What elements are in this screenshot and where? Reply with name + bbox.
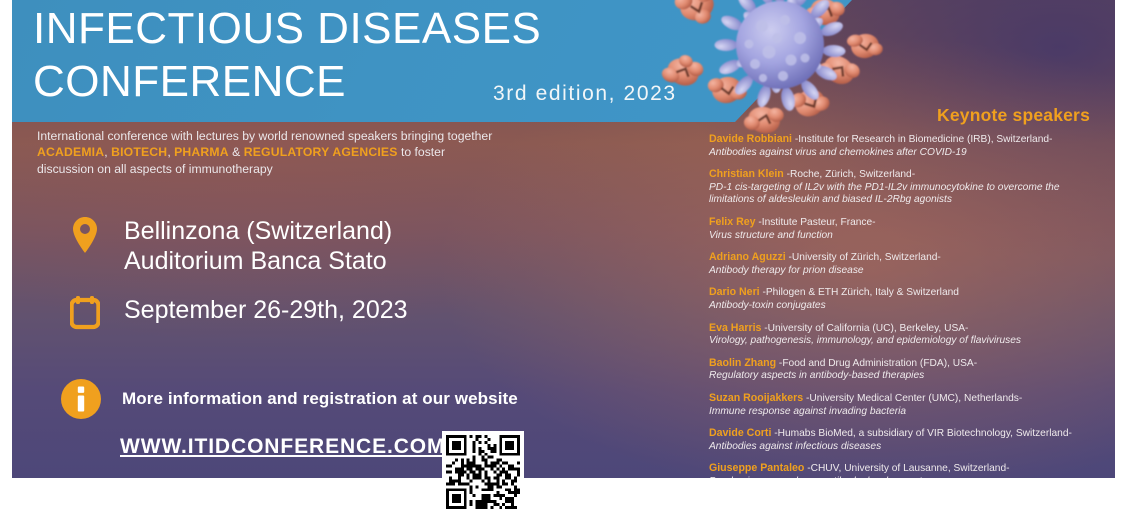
date-text: September 26-29th, 2023 — [106, 295, 408, 325]
edition-label: 3rd edition, 2023 — [493, 82, 677, 106]
speaker-name: Christian Klein — [709, 168, 784, 180]
speaker-name: Adriano Aguzzi — [709, 251, 786, 263]
speaker-entry: Felix Rey -Institute Pasteur, France-Vir… — [709, 216, 1101, 242]
speaker-name: Dario Neri — [709, 286, 760, 298]
venue-line-1: Bellinzona (Switzerland) — [124, 217, 392, 245]
speaker-name-affiliation: Christian Klein -Roche, Zürich, Switzerl… — [709, 168, 1101, 182]
location-pin-icon — [64, 216, 106, 256]
speaker-name-affiliation: Giuseppe Pantaleo -CHUV, University of L… — [709, 462, 1101, 476]
date-row: September 26-29th, 2023 — [64, 295, 408, 331]
venue-row: Bellinzona (Switzerland) Auditorium Banc… — [64, 216, 392, 276]
speaker-affiliation: -Roche, Zürich, Switzerland- — [784, 169, 915, 180]
speaker-name-affiliation: Dario Neri -Philogen & ETH Zürich, Italy… — [709, 286, 1101, 300]
speaker-name-affiliation: Suzan Rooijakkers -University Medical Ce… — [709, 392, 1101, 406]
highlight-pharma: PHARMA — [174, 145, 229, 159]
speaker-affiliation: -University of California (UC), Berkeley… — [761, 323, 968, 334]
highlight-biotech: BIOTECH — [111, 145, 167, 159]
speaker-topic: Antibodies against virus and chemokines … — [709, 147, 1101, 160]
venue-text: Bellinzona (Switzerland) Auditorium Banc… — [106, 216, 392, 276]
conference-description: International conference with lectures b… — [37, 128, 677, 177]
speaker-entry: Suzan Rooijakkers -University Medical Ce… — [709, 392, 1101, 418]
page-title: INFECTIOUS DISEASES CONFERENCE — [33, 2, 541, 108]
speaker-name-affiliation: Baolin Zhang -Food and Drug Administrati… — [709, 357, 1101, 371]
venue-line-2: Auditorium Banca Stato — [124, 247, 387, 275]
info-text: More information and registration at our… — [102, 389, 518, 409]
speaker-entry: Eva Harris -University of California (UC… — [709, 322, 1101, 348]
conference-poster: INFECTIOUS DISEASES CONFERENCE 3rd editi… — [12, 0, 1115, 478]
speaker-name-affiliation: Felix Rey -Institute Pasteur, France- — [709, 216, 1101, 230]
speaker-topic: Pandemic preparedness antibody developme… — [709, 476, 1101, 478]
calendar-icon — [64, 295, 106, 331]
speaker-name: Eva Harris — [709, 322, 761, 334]
description-line-2-tail: to foster — [398, 145, 445, 159]
info-row: More information and registration at our… — [60, 378, 518, 420]
speaker-topic: Antibody-toxin conjugates — [709, 300, 1101, 313]
speaker-topic: Antibodies against infectious diseases — [709, 441, 1101, 454]
highlight-academia: ACADEMIA — [37, 145, 104, 159]
description-line-1: International conference with lectures b… — [37, 129, 492, 143]
speaker-topic: Immune response against invading bacteri… — [709, 406, 1101, 419]
speaker-name: Davide Robbiani — [709, 133, 792, 145]
speaker-affiliation: -Food and Drug Administration (FDA), USA… — [776, 358, 977, 369]
qr-code-canvas — [446, 435, 520, 509]
speaker-name-affiliation: Eva Harris -University of California (UC… — [709, 322, 1101, 336]
description-line-3: discussion on all aspects of immunothera… — [37, 162, 273, 176]
speaker-topic: Virus structure and function — [709, 230, 1101, 243]
speaker-affiliation: -Institute Pasteur, France- — [756, 217, 876, 228]
keynote-speakers-heading: Keynote speakers — [937, 105, 1090, 126]
speaker-name: Felix Rey — [709, 216, 756, 228]
speaker-topic: Regulatory aspects in antibody-based the… — [709, 370, 1101, 383]
speaker-entry: Adriano Aguzzi -University of Zürich, Sw… — [709, 251, 1101, 277]
speaker-affiliation: -University of Zürich, Switzerland- — [786, 252, 941, 263]
highlight-regulatory-agencies: REGULATORY AGENCIES — [244, 145, 398, 159]
info-circle-icon — [60, 378, 102, 420]
speaker-entry: Dario Neri -Philogen & ETH Zürich, Italy… — [709, 286, 1101, 312]
qr-code[interactable] — [442, 431, 524, 513]
speaker-affiliation: -CHUV, University of Lausanne, Switzerla… — [804, 463, 1009, 474]
speaker-name: Giuseppe Pantaleo — [709, 462, 804, 474]
speaker-entry: Giuseppe Pantaleo -CHUV, University of L… — [709, 462, 1101, 478]
speaker-name: Baolin Zhang — [709, 357, 776, 369]
speaker-affiliation: -Philogen & ETH Zürich, Italy & Switzerl… — [760, 287, 959, 298]
speaker-name: Suzan Rooijakkers — [709, 392, 803, 404]
speaker-name-affiliation: Adriano Aguzzi -University of Zürich, Sw… — [709, 251, 1101, 265]
title-line-1: INFECTIOUS DISEASES — [33, 2, 541, 55]
speaker-topic: PD-1 cis-targeting of IL2v with the PD1-… — [709, 182, 1101, 207]
speaker-entry: Davide Robbiani -Institute for Research … — [709, 133, 1101, 159]
speaker-topic: Virology, pathogenesis, immunology, and … — [709, 335, 1101, 348]
speaker-affiliation: -Institute for Research in Biomedicine (… — [792, 134, 1052, 145]
speaker-entry: Davide Corti -Humabs BioMed, a subsidiar… — [709, 427, 1101, 453]
speaker-name: Davide Corti — [709, 427, 771, 439]
speaker-name-affiliation: Davide Robbiani -Institute for Research … — [709, 133, 1101, 147]
speaker-affiliation: -Humabs BioMed, a subsidiary of VIR Biot… — [771, 428, 1071, 439]
speaker-affiliation: -University Medical Center (UMC), Nether… — [803, 393, 1022, 404]
speaker-name-affiliation: Davide Corti -Humabs BioMed, a subsidiar… — [709, 427, 1101, 441]
keynote-speaker-list: Davide Robbiani -Institute for Research … — [709, 133, 1101, 478]
title-line-2: CONFERENCE — [33, 55, 541, 108]
speaker-entry: Baolin Zhang -Food and Drug Administrati… — [709, 357, 1101, 383]
website-link[interactable]: WWW.ITIDCONFERENCE.COM — [120, 435, 445, 459]
desc-sep-3: & — [229, 145, 244, 159]
speaker-entry: Christian Klein -Roche, Zürich, Switzerl… — [709, 168, 1101, 207]
speaker-topic: Antibody therapy for prion disease — [709, 265, 1101, 278]
